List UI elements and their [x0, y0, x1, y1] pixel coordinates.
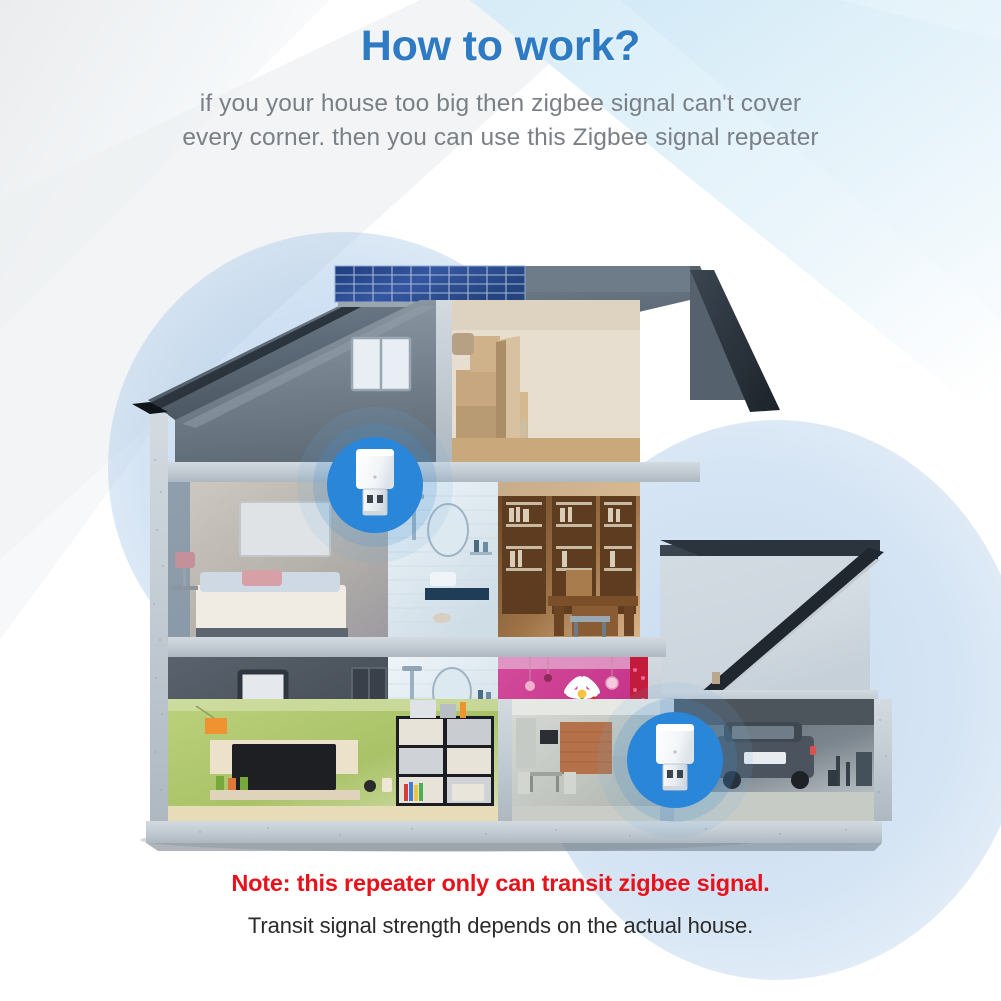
page-subtitle: if you your house too big then zigbee si…: [0, 87, 1001, 153]
repeater-badge-downstairs[interactable]: [627, 712, 723, 808]
usb-zigbee-repeater-icon: [349, 447, 401, 523]
header-block: How to work? if you your house too big t…: [0, 22, 1001, 154]
repeater-badge-upstairs[interactable]: [327, 437, 423, 533]
infographic-page: How to work? if you your house too big t…: [0, 0, 1001, 1001]
footer-notes: Note: this repeater only can transit zig…: [0, 868, 1001, 940]
note-warning-text: Note: this repeater only can transit zig…: [0, 868, 1001, 899]
note-sub-text: Transit signal strength depends on the a…: [0, 912, 1001, 941]
subtitle-line-2: every corner. then you can use this Zigb…: [0, 121, 1001, 154]
subtitle-line-1: if you your house too big then zigbee si…: [0, 87, 1001, 120]
usb-zigbee-repeater-icon: [649, 722, 701, 798]
page-title: How to work?: [0, 22, 1001, 71]
